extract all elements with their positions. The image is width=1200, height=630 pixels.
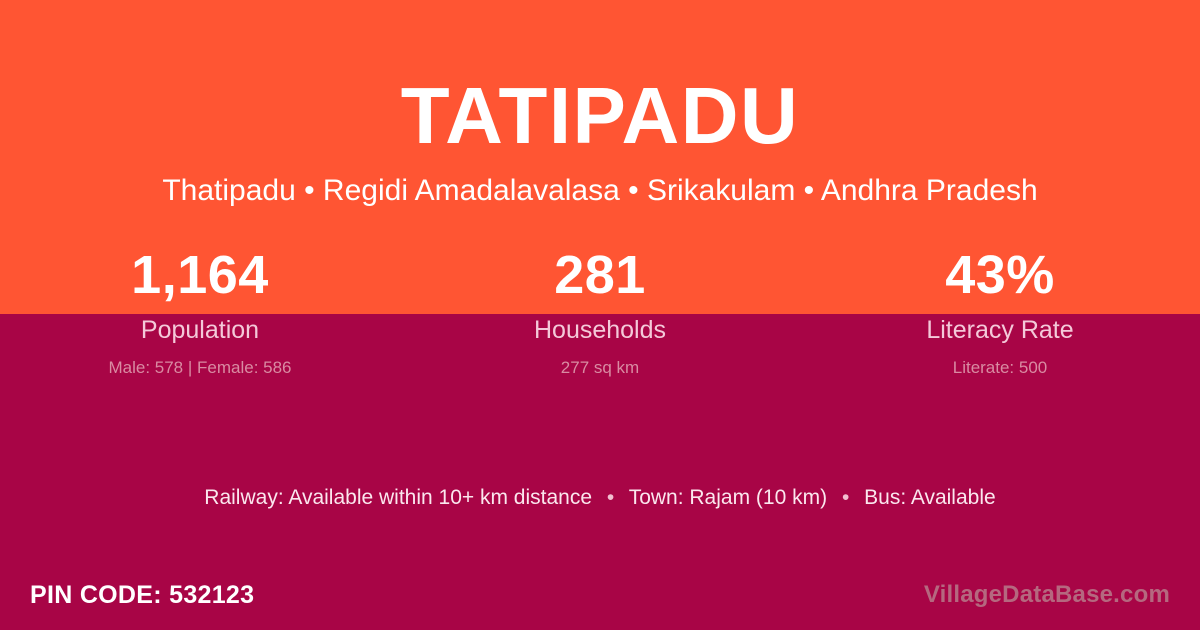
page-title: TATIPADU xyxy=(0,76,1200,156)
stat-label-literacy-rate: Literacy Rate xyxy=(800,318,1200,343)
stat-detail-population: Male: 578 | Female: 586 xyxy=(0,359,400,376)
transport-info-line: Railway: Available within 10+ km distanc… xyxy=(0,487,1200,508)
village-info-card: TATIPADU Thatipadu • Regidi Amadalavalas… xyxy=(0,0,1200,630)
stat-label-population: Population xyxy=(0,318,400,343)
transport-railway: Railway: Available within 10+ km distanc… xyxy=(204,486,592,509)
stat-households: 281 Households 277 sq km xyxy=(400,248,800,376)
header: TATIPADU Thatipadu • Regidi Amadalavalas… xyxy=(0,0,1200,206)
stat-literacy-rate: 43% Literacy Rate Literate: 500 xyxy=(800,248,1200,376)
brand-watermark: VillageDataBase.com xyxy=(924,583,1170,607)
stat-label-households: Households xyxy=(400,318,800,343)
footer: PIN CODE: 532123 VillageDataBase.com xyxy=(0,560,1200,630)
stat-detail-literacy-rate: Literate: 500 xyxy=(800,359,1200,376)
stat-population: 1,164 Population Male: 578 | Female: 586 xyxy=(0,248,400,376)
bullet-separator-icon: • xyxy=(598,486,623,509)
bullet-separator-icon: • xyxy=(833,486,858,509)
stat-value-literacy-rate: 43% xyxy=(800,248,1200,302)
pin-code-label: PIN CODE: 532123 xyxy=(30,583,254,608)
stat-detail-households: 277 sq km xyxy=(400,359,800,376)
stat-value-population: 1,164 xyxy=(0,248,400,302)
transport-bus: Bus: Available xyxy=(864,486,996,509)
stats-row: 1,164 Population Male: 578 | Female: 586… xyxy=(0,248,1200,376)
transport-town: Town: Rajam (10 km) xyxy=(629,486,827,509)
location-breadcrumb: Thatipadu • Regidi Amadalavalasa • Srika… xyxy=(0,176,1200,206)
stat-value-households: 281 xyxy=(400,248,800,302)
